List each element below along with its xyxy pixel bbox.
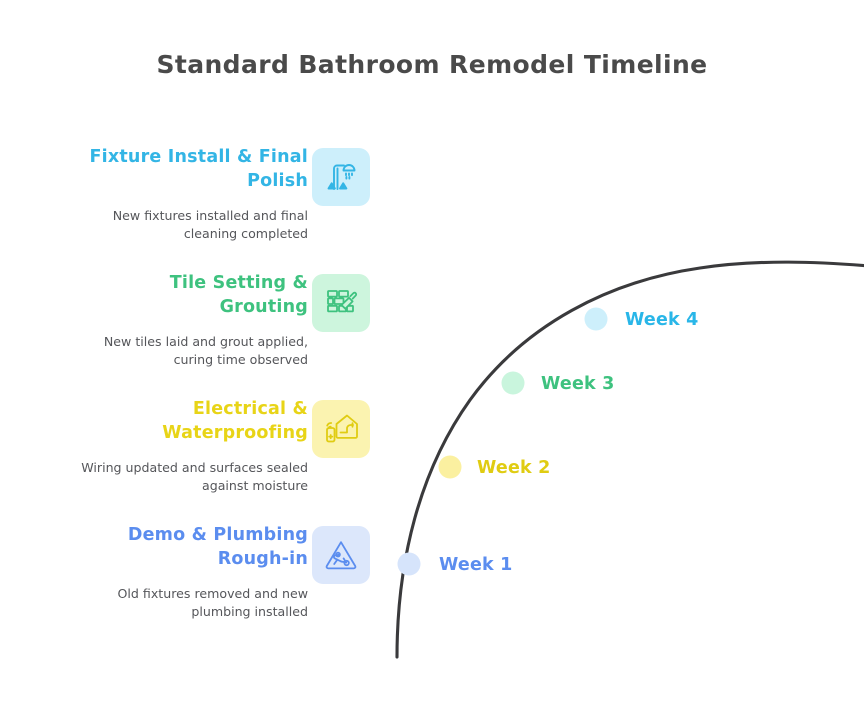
stage-header: Electrical & Waterproofing (40, 397, 370, 459)
milestone-dot-week-2[interactable] (439, 456, 462, 479)
stage-description: Wiring updated and surfaces sealed again… (76, 459, 308, 494)
stage-description: New tiles laid and grout applied, curing… (76, 333, 308, 368)
stage-item-demo-plumbing[interactable]: Demo & Plumbing Rough-in Old fixtures re… (40, 523, 370, 638)
stage-header: Tile Setting & Grouting (40, 271, 370, 333)
stage-description: New fixtures installed and final cleanin… (76, 207, 308, 242)
stage-item-fixture-install[interactable]: Fixture Install & Final Polish New fixtu… (40, 145, 370, 260)
stage-header: Demo & Plumbing Rough-in (40, 523, 370, 585)
week-label-1: Week 1 (439, 555, 513, 575)
smart-home-faucet-icon (312, 400, 370, 458)
stage-title: Electrical & Waterproofing (76, 397, 308, 445)
stage-item-electrical-waterproofing[interactable]: Electrical & Waterproofing Wiring update… (40, 397, 370, 512)
milestone-dot-week-1[interactable] (398, 553, 421, 576)
week-label-2: Week 2 (477, 458, 551, 478)
milestone-dot-week-4[interactable] (585, 308, 608, 331)
stage-header: Fixture Install & Final Polish (40, 145, 370, 207)
infographic-canvas: Standard Bathroom Remodel Timeline Week … (0, 0, 864, 702)
stage-title: Demo & Plumbing Rough-in (76, 523, 308, 571)
brick-trowel-icon (312, 274, 370, 332)
stage-title: Tile Setting & Grouting (76, 271, 308, 319)
stage-item-tile-setting[interactable]: Tile Setting & Grouting New tiles laid a… (40, 271, 370, 386)
stage-description: Old fixtures removed and new plumbing in… (76, 585, 308, 620)
milestone-dot-week-3[interactable] (502, 372, 525, 395)
week-label-4: Week 4 (625, 310, 699, 330)
stage-title: Fixture Install & Final Polish (76, 145, 308, 193)
week-label-3: Week 3 (541, 374, 615, 394)
shower-icon (312, 148, 370, 206)
construction-worker-sign-icon (312, 526, 370, 584)
